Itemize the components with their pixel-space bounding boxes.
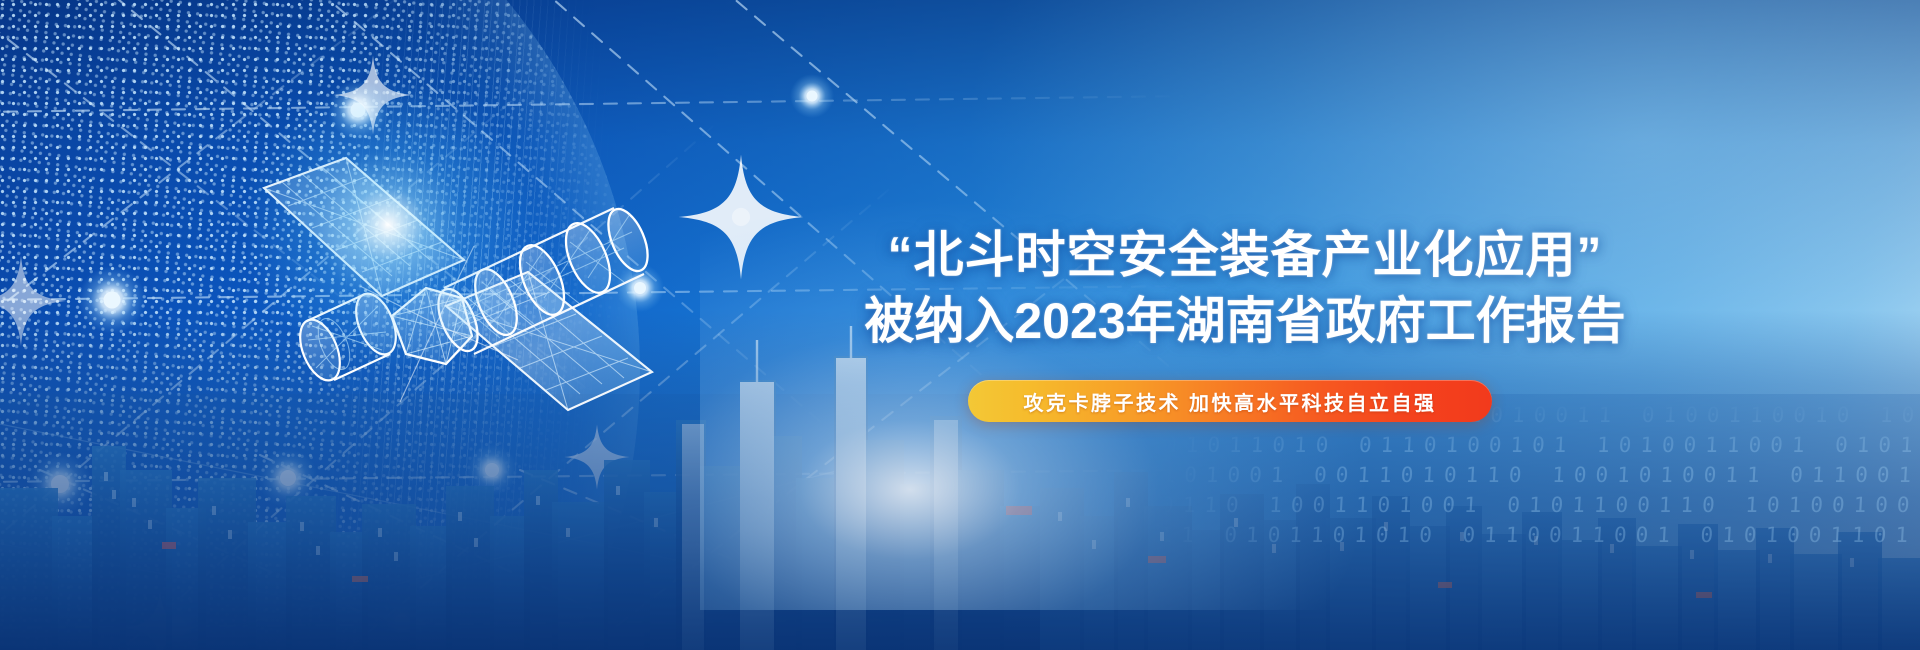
binary-digit-overlay: 0101001101 1001010011 0100110010 1001011… [1153,400,1920,650]
slogan-badge: 攻克卡脖子技术 加快高水平科技自立自强 [968,380,1492,422]
headline-line-1: “北斗时空安全装备产业化应用” [840,222,1650,288]
headline-line-2: 被纳入2023年湖南省政府工作报告 [840,288,1650,354]
promo-banner: 0101001101 1001010011 0100110010 1001011… [0,0,1920,650]
wireframe-space-station [250,110,670,440]
page-title: “北斗时空安全装备产业化应用” 被纳入2023年湖南省政府工作报告 [840,222,1650,354]
satellite-wireframe-svg [250,110,670,440]
slogan-badge-label: 攻克卡脖子技术 加快高水平科技自立自强 [1023,387,1436,416]
